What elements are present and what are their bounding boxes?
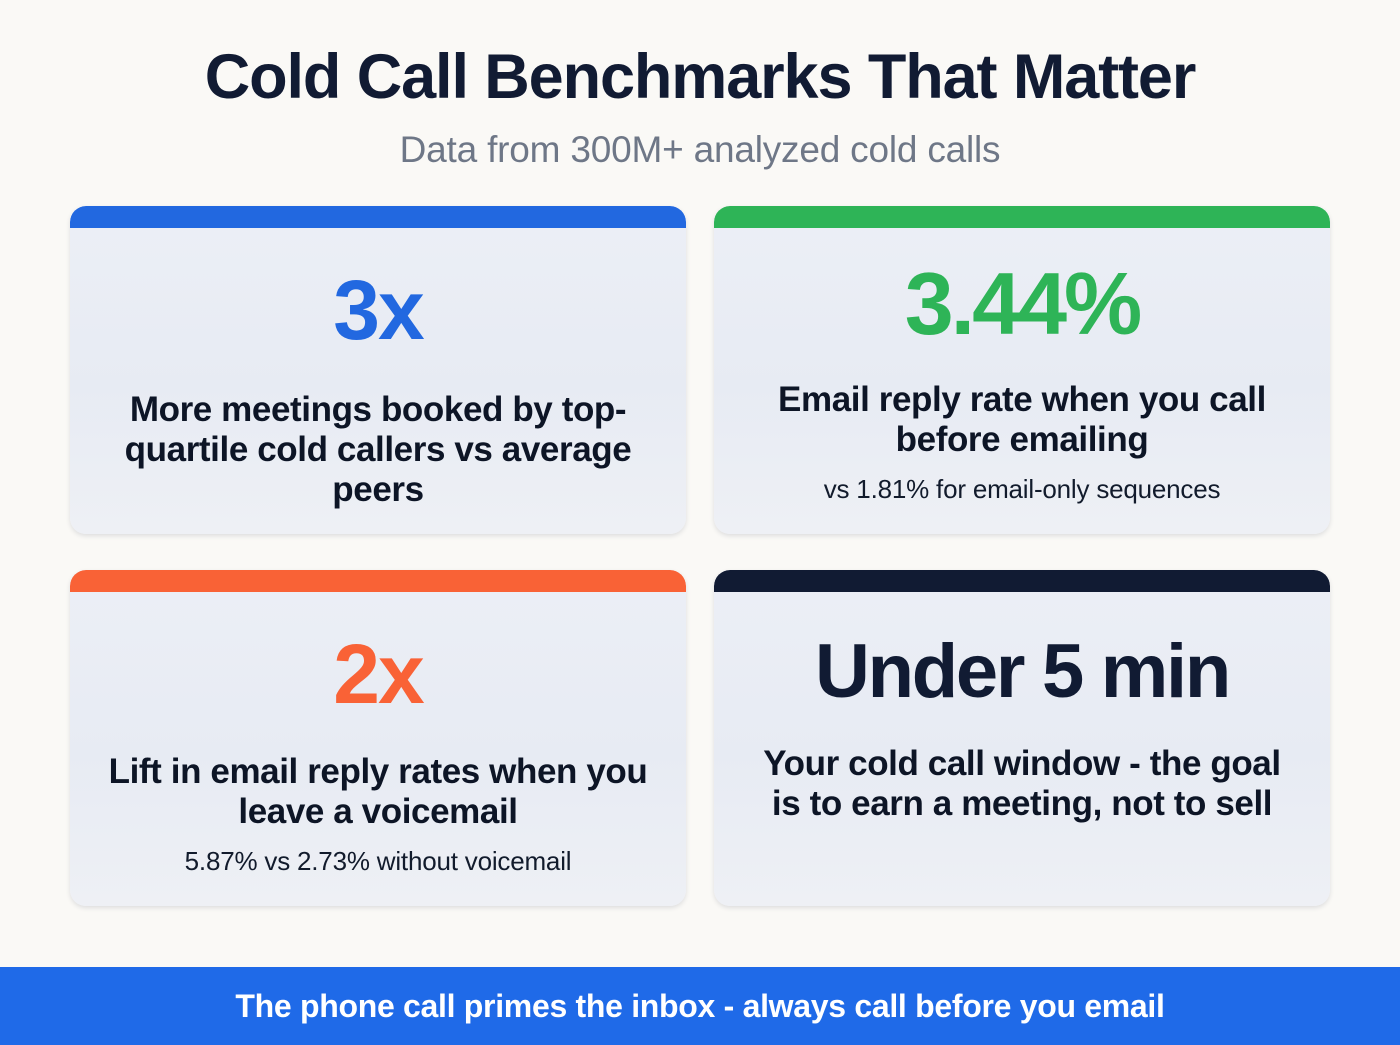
footer-text: The phone call primes the inbox - always… — [235, 990, 1164, 1022]
stat-value: 3.44% — [905, 260, 1140, 348]
accent-bar-blue — [70, 206, 686, 228]
stat-label: Your cold call window - the goal is to e… — [750, 744, 1295, 825]
card-content: 2x Lift in email reply rates when you le… — [96, 610, 660, 878]
stat-label: Lift in email reply rates when you leave… — [98, 752, 658, 833]
stat-card-email-reply-rate: 3.44% Email reply rate when you call bef… — [714, 206, 1330, 534]
stat-card-call-window: Under 5 min Your cold call window - the … — [714, 570, 1330, 906]
card-content: Under 5 min Your cold call window - the … — [740, 610, 1304, 825]
stat-note: 5.87% vs 2.73% without voicemail — [185, 846, 572, 877]
stat-card-meetings-booked: 3x More meetings booked by top-quartile … — [70, 206, 686, 534]
header: Cold Call Benchmarks That Matter Data fr… — [0, 0, 1400, 171]
page-title: Cold Call Benchmarks That Matter — [0, 44, 1400, 110]
stat-value: 3x — [333, 268, 422, 352]
footer-banner: The phone call primes the inbox - always… — [0, 967, 1400, 1045]
card-content: 3x More meetings booked by top-quartile … — [96, 246, 660, 511]
accent-bar-green — [714, 206, 1330, 228]
stat-label: Email reply rate when you call before em… — [752, 380, 1292, 461]
infographic-poster: Cold Call Benchmarks That Matter Data fr… — [0, 0, 1400, 1045]
stat-label: More meetings booked by top-quartile col… — [113, 390, 643, 511]
card-content: 3.44% Email reply rate when you call bef… — [740, 246, 1304, 506]
stat-card-voicemail-lift: 2x Lift in email reply rates when you le… — [70, 570, 686, 906]
page-subtitle: Data from 300M+ analyzed cold calls — [0, 130, 1400, 171]
stat-value: 2x — [333, 632, 422, 716]
stat-value: Under 5 min — [815, 634, 1229, 710]
accent-bar-navy — [714, 570, 1330, 592]
stat-note: vs 1.81% for email-only sequences — [824, 474, 1221, 505]
accent-bar-orange — [70, 570, 686, 592]
stat-card-grid: 3x More meetings booked by top-quartile … — [70, 206, 1330, 906]
